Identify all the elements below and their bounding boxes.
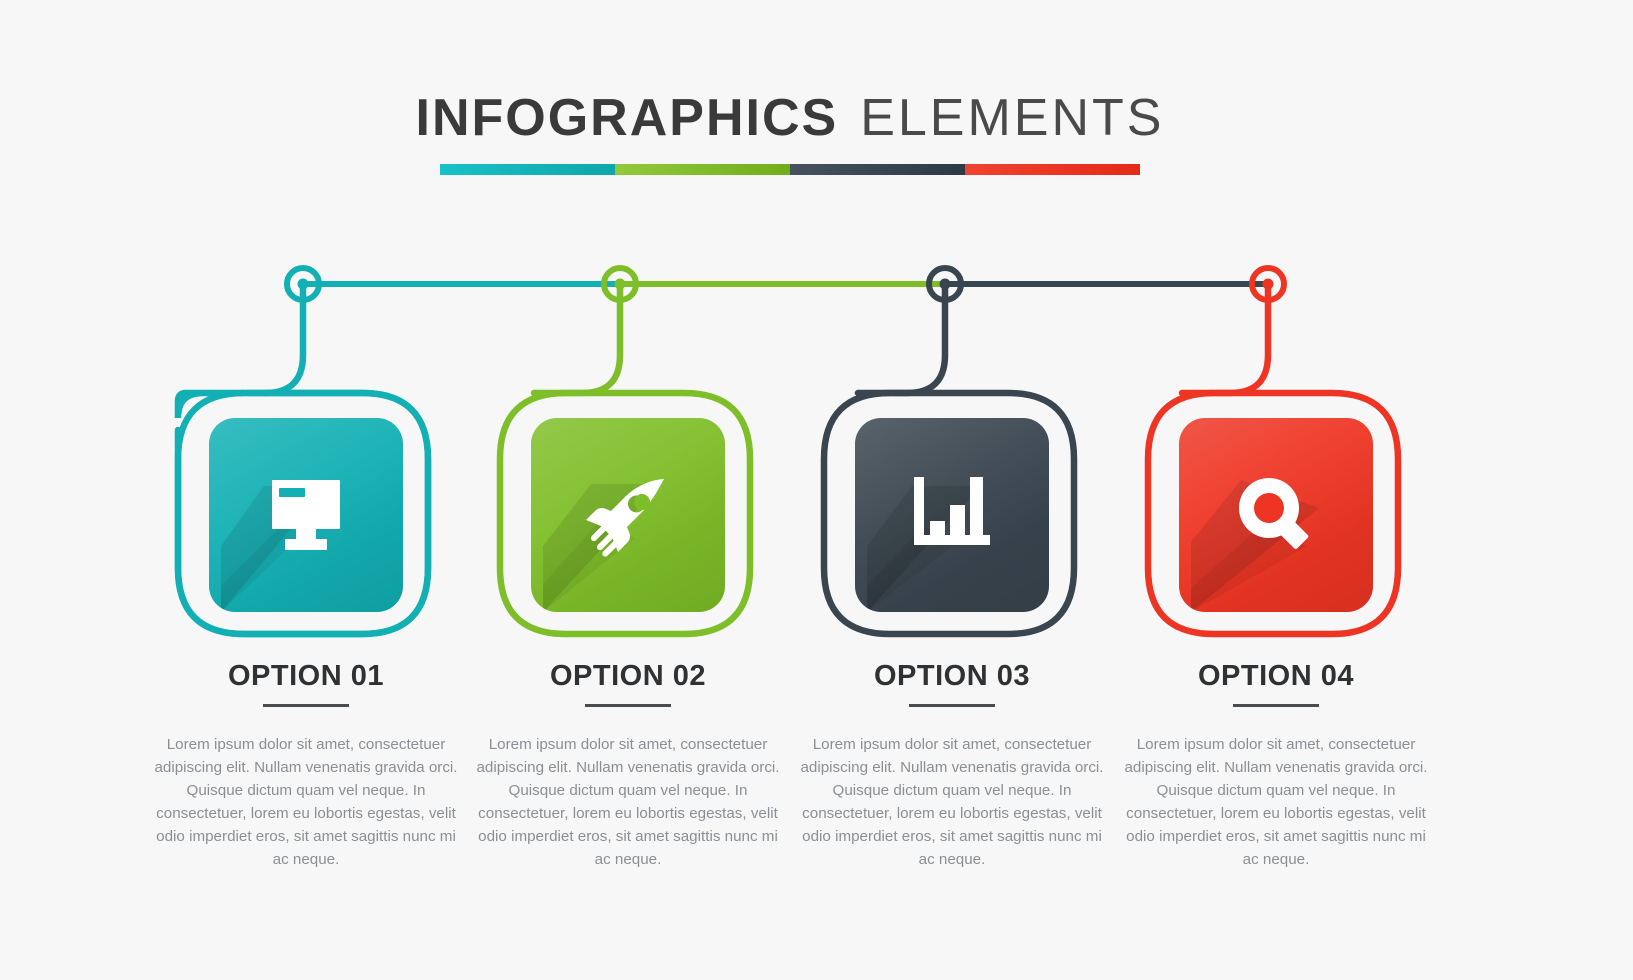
card-wrap-01 <box>176 386 436 644</box>
card-wrap-03 <box>822 386 1082 644</box>
option-body-02: Lorem ipsum dolor sit amet, consectetuer… <box>462 733 794 872</box>
label-block-04: OPTION 04 Lorem ipsum dolor sit amet, co… <box>1110 660 1442 872</box>
monitor-icon <box>209 418 403 612</box>
options-row: OPTION 01 Lorem ipsum dolor sit amet, co… <box>0 0 1633 980</box>
option-title-02: OPTION 02 <box>462 660 794 693</box>
card-wrap-04 <box>1146 386 1406 644</box>
option-rule-04 <box>1233 704 1319 707</box>
option-title-04: OPTION 04 <box>1110 660 1442 693</box>
option-rule-02 <box>585 704 671 707</box>
icon-tile-01[interactable] <box>209 418 403 612</box>
option-rule-01 <box>263 704 349 707</box>
option-card-02[interactable]: OPTION 02 Lorem ipsum dolor sit amet, co… <box>462 386 794 644</box>
option-rule-03 <box>909 704 995 707</box>
option-title-01: OPTION 01 <box>140 660 472 693</box>
icon-tile-04[interactable] <box>1179 418 1373 612</box>
option-card-01[interactable]: OPTION 01 Lorem ipsum dolor sit amet, co… <box>140 386 472 644</box>
infographic-canvas: INFOGRAPHICS ELEMENTS <box>0 0 1633 980</box>
option-title-03: OPTION 03 <box>786 660 1118 693</box>
option-body-04: Lorem ipsum dolor sit amet, consectetuer… <box>1110 733 1442 872</box>
option-card-03[interactable]: OPTION 03 Lorem ipsum dolor sit amet, co… <box>786 386 1118 644</box>
card-wrap-02 <box>498 386 758 644</box>
rocket-icon <box>531 418 725 612</box>
option-body-03: Lorem ipsum dolor sit amet, consectetuer… <box>786 733 1118 872</box>
label-block-03: OPTION 03 Lorem ipsum dolor sit amet, co… <box>786 660 1118 872</box>
bar-chart-icon <box>855 418 1049 612</box>
option-body-01: Lorem ipsum dolor sit amet, consectetuer… <box>140 733 472 872</box>
magnifier-icon <box>1179 418 1373 612</box>
icon-tile-03[interactable] <box>855 418 1049 612</box>
label-block-02: OPTION 02 Lorem ipsum dolor sit amet, co… <box>462 660 794 872</box>
option-card-04[interactable]: OPTION 04 Lorem ipsum dolor sit amet, co… <box>1110 386 1442 644</box>
icon-tile-02[interactable] <box>531 418 725 612</box>
label-block-01: OPTION 01 Lorem ipsum dolor sit amet, co… <box>140 660 472 872</box>
